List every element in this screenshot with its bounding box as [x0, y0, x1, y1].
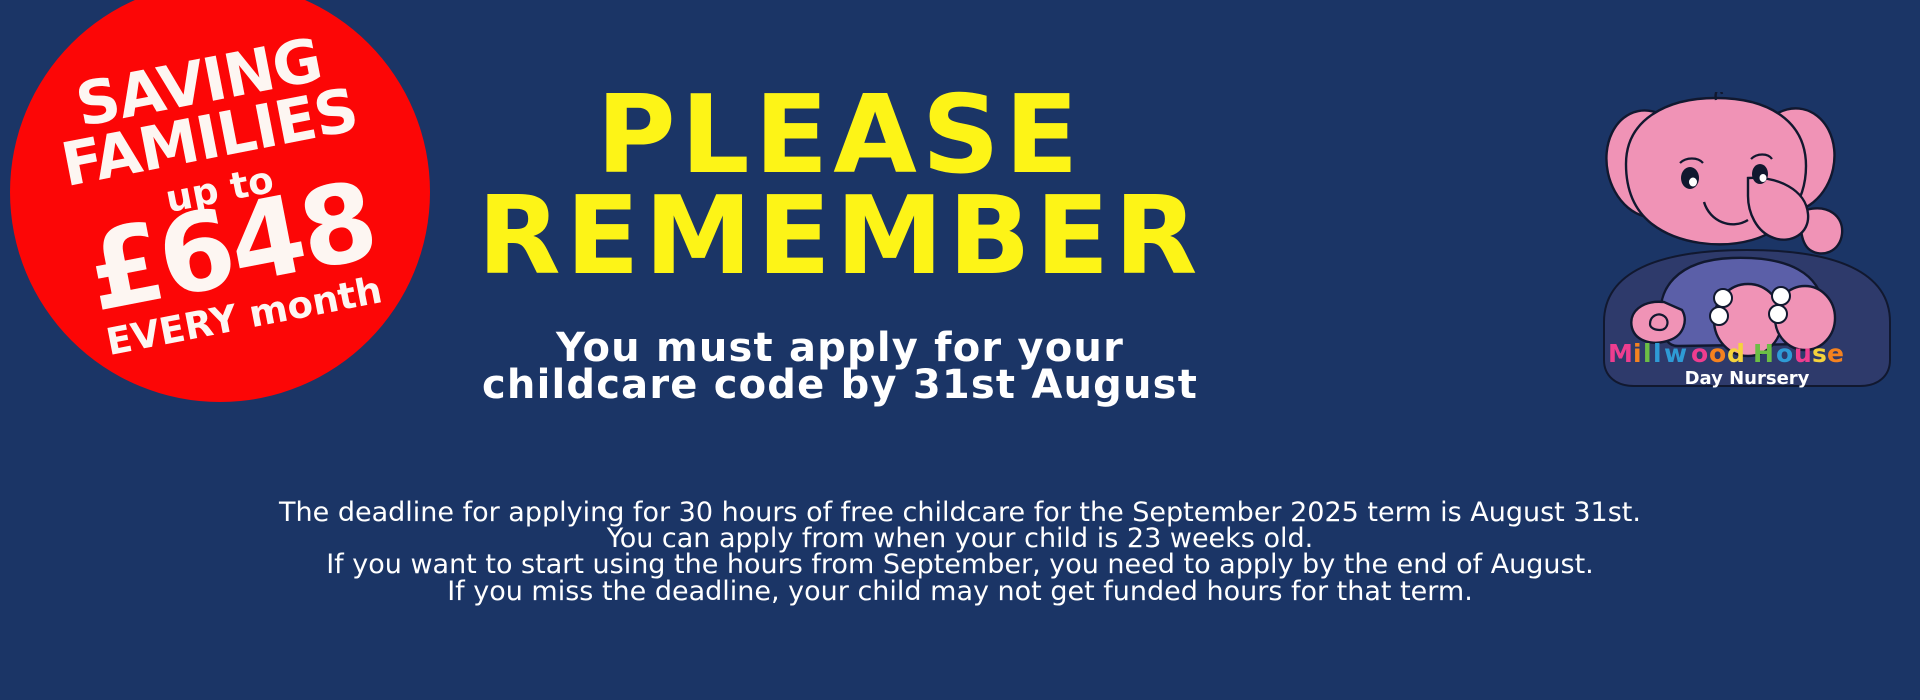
logo-letter-o-9: o — [1776, 339, 1793, 368]
body-line: If you want to start using the hours fro… — [326, 552, 1594, 578]
millwood-house-logo: M i l l w o o d H o u s e Day Nursery — [1592, 92, 1902, 392]
logo-letter-l-3: l — [1653, 339, 1662, 368]
logo-wordmark: M i l l w o o d H o u s e — [1608, 339, 1844, 368]
logo-subtitle: Day Nursery — [1685, 368, 1810, 389]
logo-letter-l-2: l — [1643, 339, 1652, 368]
logo-letter-i-1: i — [1633, 339, 1642, 368]
logo-letter-H-8: H — [1753, 339, 1774, 368]
logo-letter-o-5: o — [1691, 339, 1708, 368]
elephant-icon — [1597, 92, 1844, 356]
body-paragraph: The deadline for applying for 30 hours o… — [0, 500, 1920, 605]
headline-line-1: PLEASE — [597, 88, 1084, 183]
body-line: If you miss the deadline, your child may… — [447, 579, 1473, 605]
logo-letter-s-11: s — [1812, 339, 1827, 368]
logo-letter-u-10: u — [1794, 339, 1812, 368]
logo-letter-o-6: o — [1709, 339, 1726, 368]
logo-letter-M-0: M — [1608, 339, 1633, 368]
subheading-line-2: childcare code by 31st August — [482, 365, 1198, 405]
headline-line-2: REMEMBER — [478, 189, 1203, 284]
logo-letter-d-7: d — [1727, 339, 1745, 368]
logo-letter-e-12: e — [1827, 339, 1844, 368]
main-message-block: PLEASE REMEMBER You must apply for your … — [380, 0, 1300, 500]
savings-badge: SAVING FAMILIES up to £648 EVERY month — [10, 0, 430, 402]
logo-letter-w-4: w — [1664, 339, 1687, 368]
savings-badge-content: SAVING FAMILIES up to £648 EVERY month — [10, 0, 430, 402]
